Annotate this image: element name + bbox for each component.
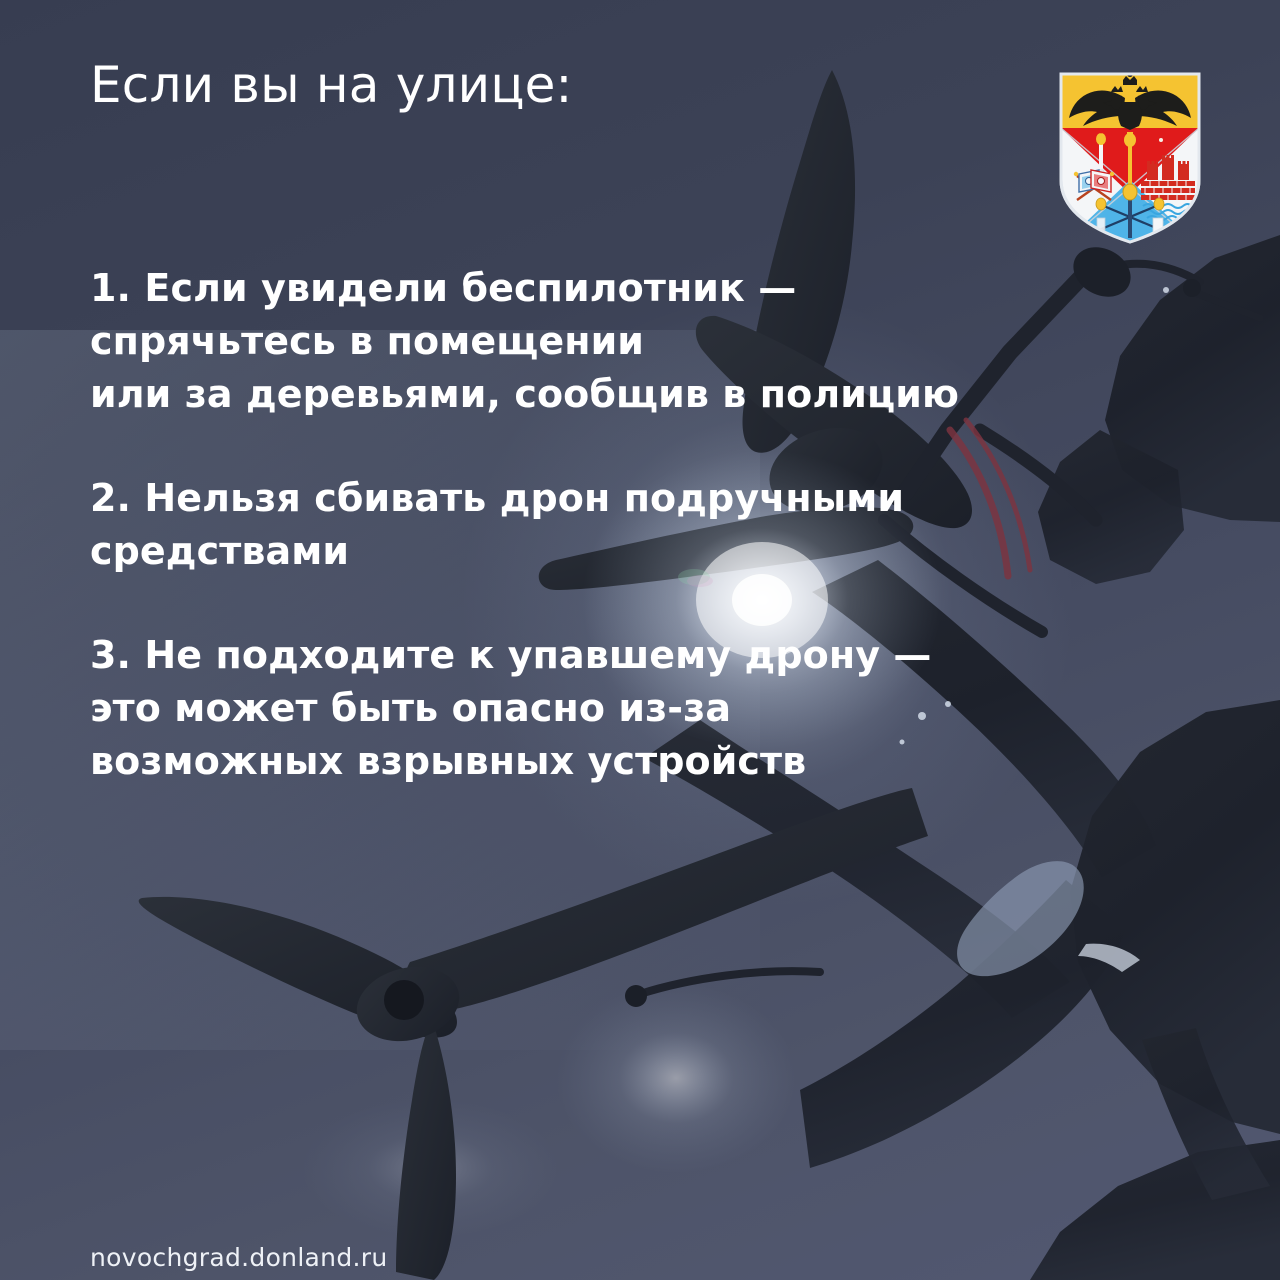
tip-2-line-1: 2. Нельзя сбивать дрон подручными xyxy=(90,472,1100,525)
safety-tip-1: 1. Если увидели беспилотник — спрячьтесь… xyxy=(90,262,1100,421)
tip-1-line-2: спрячьтесь в помещении xyxy=(90,315,1100,368)
safety-tips-list: 1. Если увидели беспилотник — спрячьтесь… xyxy=(90,262,1100,788)
antenna-tip xyxy=(625,985,647,1007)
tip-2-line-2: средствами xyxy=(90,525,1100,578)
tip-3-line-3: возможных взрывных устройств xyxy=(90,735,1100,788)
safety-tip-3: 3. Не подходите к упавшему дрону — это м… xyxy=(90,629,1100,788)
tip-1-line-3: или за деревьями, сообщив в полицию xyxy=(90,368,1100,421)
poster-canvas: Если вы на улице: 1. Если увидели беспил… xyxy=(0,0,1280,1280)
tip-1-line-1: 1. Если увидели беспилотник — xyxy=(90,262,1100,315)
coat-of-arms-icon xyxy=(1055,68,1205,246)
safety-tip-2: 2. Нельзя сбивать дрон подручными средст… xyxy=(90,472,1100,578)
page-title: Если вы на улице: xyxy=(90,58,573,112)
footer-website-url: novochgrad.donland.ru xyxy=(90,1243,387,1272)
tip-3-line-2: это может быть опасно из-за xyxy=(90,682,1100,735)
tip-3-line-1: 3. Не подходите к упавшему дрону — xyxy=(90,629,1100,682)
